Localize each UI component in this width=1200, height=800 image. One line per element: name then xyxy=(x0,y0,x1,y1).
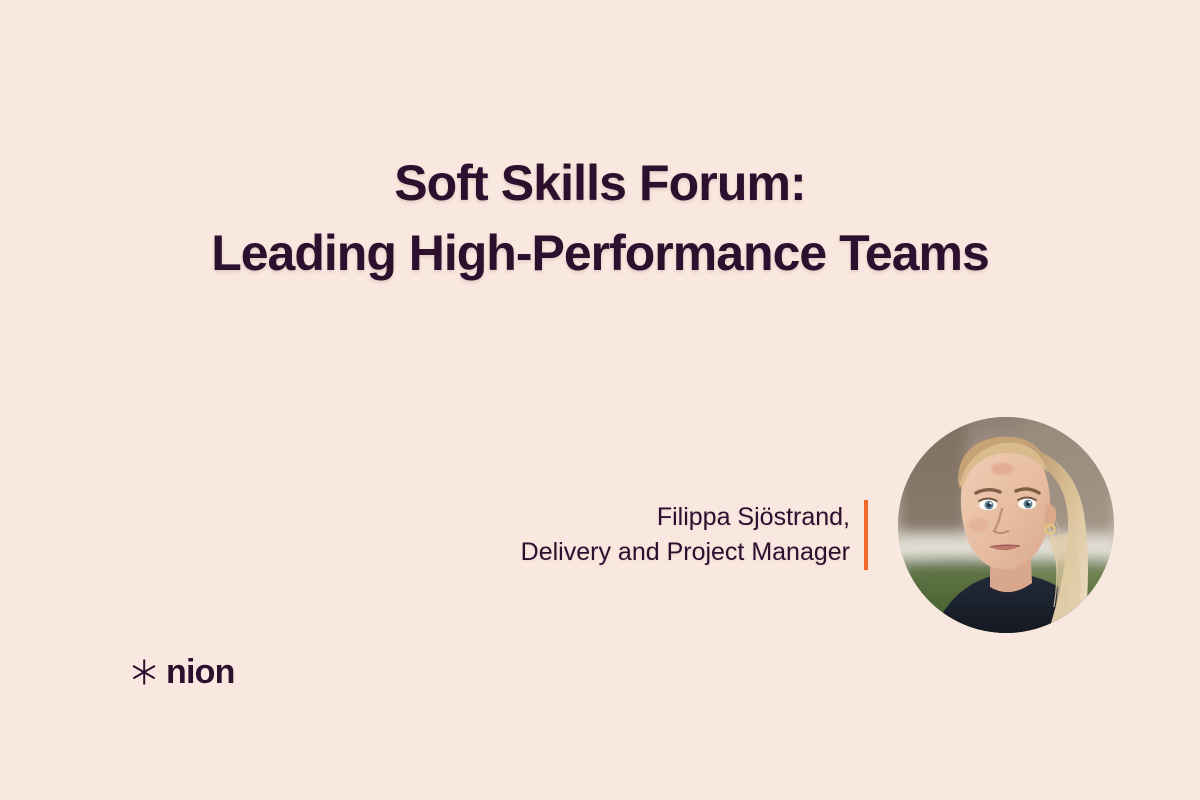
speaker-portrait xyxy=(898,417,1114,633)
accent-divider xyxy=(864,500,868,570)
title-block: Soft Skills Forum: Leading High-Performa… xyxy=(0,148,1200,288)
presentation-slide: Soft Skills Forum: Leading High-Performa… xyxy=(0,0,1200,800)
asterisk-icon xyxy=(131,659,157,685)
speaker-block: Filippa Sjöstrand, Delivery and Project … xyxy=(521,500,868,570)
brand-logo: nion xyxy=(131,655,235,689)
page-title-line-2: Leading High-Performance Teams xyxy=(0,218,1200,288)
page-title-line-1: Soft Skills Forum: xyxy=(0,148,1200,218)
portrait-image xyxy=(898,417,1114,633)
speaker-name: Filippa Sjöstrand, xyxy=(521,500,850,535)
logo-wordmark: nion xyxy=(166,655,235,689)
speaker-text: Filippa Sjöstrand, Delivery and Project … xyxy=(521,500,864,570)
speaker-role: Delivery and Project Manager xyxy=(521,535,850,570)
